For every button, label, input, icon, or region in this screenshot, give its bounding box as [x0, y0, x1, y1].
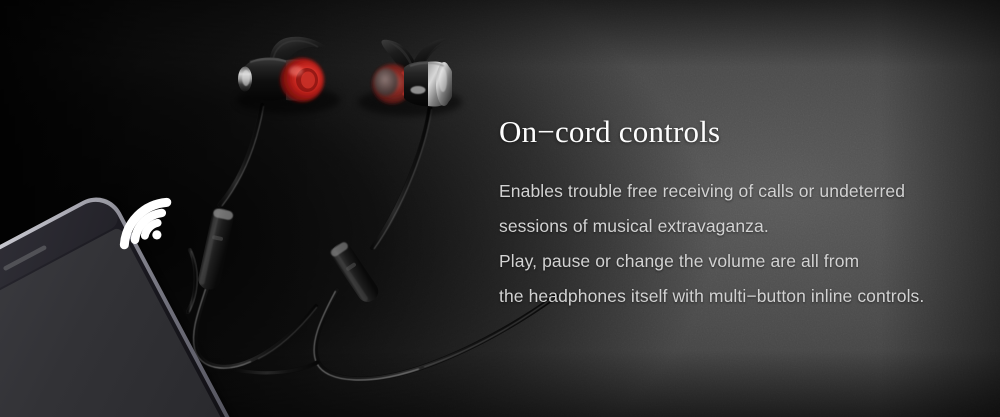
- description-line-4: the headphones itself with multi−button …: [499, 279, 924, 314]
- right-earbud-button: [411, 86, 426, 94]
- description-block: Enables trouble free receiving of calls …: [499, 174, 924, 314]
- page-title: On−cord controls: [499, 113, 720, 151]
- inline-control-module-left: [197, 207, 236, 292]
- wireless-signal-dot: [150, 228, 163, 241]
- description-line-2: sessions of musical extravaganza.: [499, 209, 924, 244]
- left-earbud: [236, 37, 340, 114]
- description-line-1: Enables trouble free receiving of calls …: [499, 174, 924, 209]
- product-banner: On−cord controls Enables trouble free re…: [0, 0, 1000, 417]
- right-earbud: [358, 38, 462, 116]
- description-line-3: Play, pause or change the volume are all…: [499, 244, 924, 279]
